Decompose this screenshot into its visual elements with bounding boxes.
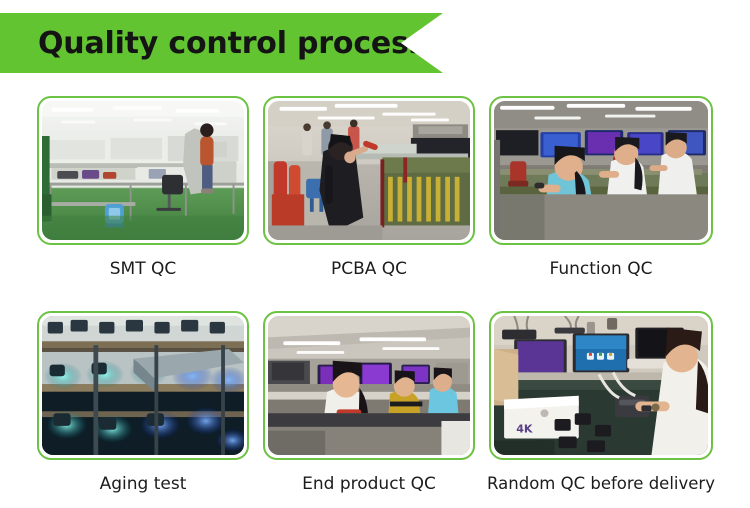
aging-test-rack-photo — [42, 316, 244, 455]
svg-text:4K: 4K — [516, 423, 533, 436]
photo-frame — [263, 311, 475, 460]
qc-row-1: SMT QC — [0, 96, 750, 279]
photo-frame — [37, 96, 249, 245]
qc-process-grid: SMT QC — [0, 96, 750, 494]
photo-frame — [263, 96, 475, 245]
qc-card-function-qc[interactable]: Function QC — [489, 96, 713, 279]
smt-production-line-photo — [42, 101, 244, 240]
qc-card-caption: Function QC — [550, 259, 653, 279]
header-banner: Quality control process — [0, 13, 443, 73]
qc-card-aging-test[interactable]: Aging test — [37, 311, 249, 494]
qc-card-smt-qc[interactable]: SMT QC — [37, 96, 249, 279]
qc-card-caption: SMT QC — [110, 259, 177, 279]
qc-card-random-qc-before-delivery[interactable]: 4K — [489, 311, 713, 494]
photo-frame — [489, 96, 713, 245]
page-title: Quality control process — [38, 26, 426, 61]
function-test-line-photo — [494, 101, 708, 240]
qc-card-caption: End product QC — [302, 474, 436, 494]
end-product-qc-photo — [268, 316, 470, 455]
qc-card-end-product-qc[interactable]: End product QC — [263, 311, 475, 494]
qc-card-caption: Random QC before delivery — [487, 474, 715, 493]
photo-frame: 4K — [489, 311, 713, 460]
pcba-assembly-line-photo — [268, 101, 470, 240]
qc-card-caption: PCBA QC — [331, 259, 407, 279]
random-qc-desk-photo: 4K — [494, 316, 708, 455]
photo-frame — [37, 311, 249, 460]
qc-card-pcba-qc[interactable]: PCBA QC — [263, 96, 475, 279]
qc-card-caption: Aging test — [100, 474, 187, 494]
qc-row-2: Aging test — [0, 311, 750, 494]
